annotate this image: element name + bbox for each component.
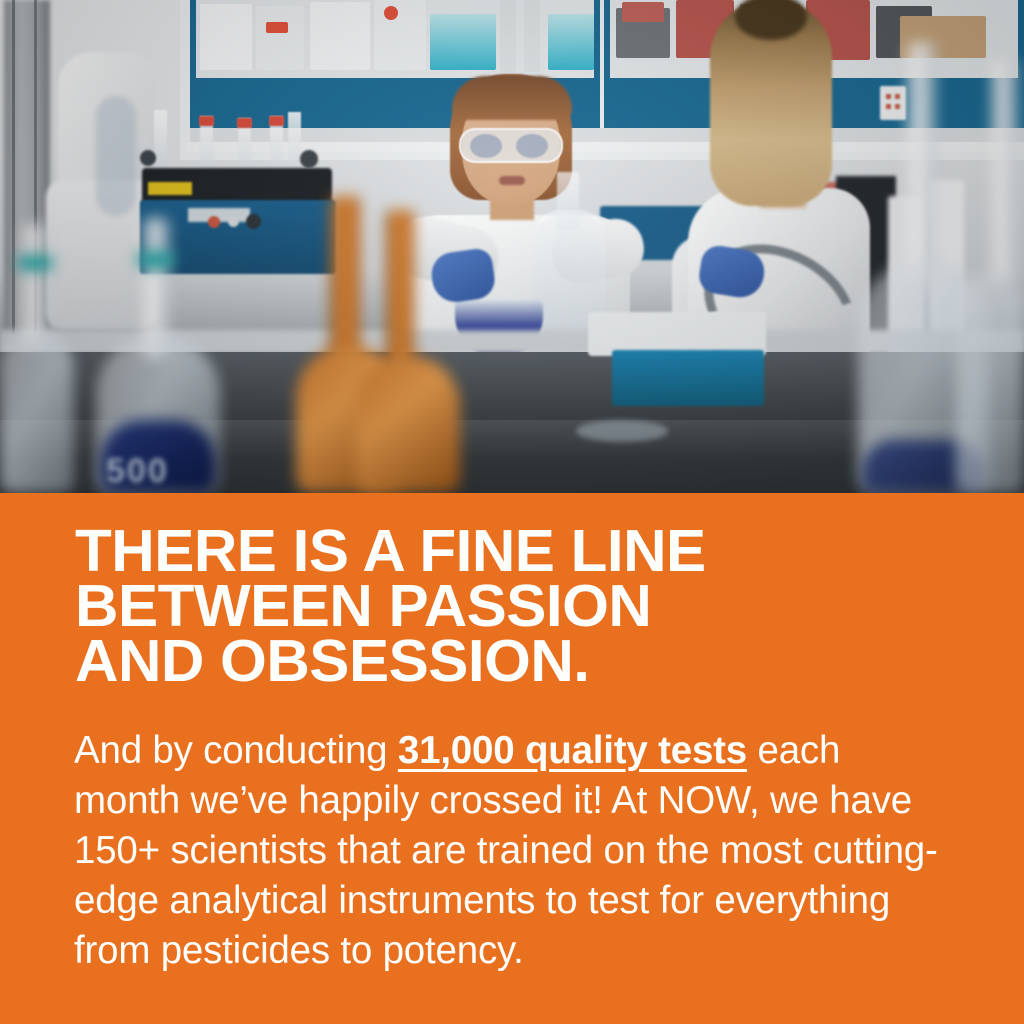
instrument-button (208, 216, 220, 228)
tube-cap (269, 116, 284, 126)
bench-instrument-blue (612, 350, 764, 406)
flask-volume-label: 500 (106, 452, 169, 491)
instrument-knob (300, 150, 318, 168)
cabinet-box (256, 6, 304, 70)
petri-dish (576, 420, 668, 442)
body-copy: And by conducting 31,000 quality tests e… (74, 726, 954, 976)
cabinet-label (266, 22, 288, 33)
scientist-center-fringe (452, 76, 572, 120)
orange-content-panel: THERE IS A FINE LINE BETWEEN PASSION AND… (0, 493, 1024, 1024)
foreground-flask-amber-neck (386, 210, 414, 368)
tube-cap (237, 118, 252, 128)
lab-photo: 500 (0, 0, 1024, 493)
tube-cap (199, 116, 214, 126)
cabinet-box (310, 2, 370, 70)
lab-post-groove (12, 0, 15, 368)
flask-cap-teal (138, 252, 174, 267)
cabinet-item (622, 2, 664, 22)
body-text-before: And by conducting (74, 729, 398, 772)
foreground-flask-neck (906, 42, 936, 280)
scientist-center-mouth (499, 176, 525, 185)
headline: THERE IS A FINE LINE BETWEEN PASSION AND… (75, 524, 993, 689)
eyeglass-lens-left (470, 134, 502, 158)
wall-outlet (880, 86, 906, 120)
cabinet-box (374, 0, 426, 70)
test-tube (154, 110, 167, 162)
foreground-flask-clear (0, 330, 74, 493)
poster: 500 THERE IS A FINE LINE BETWEEN PASSION… (0, 0, 1024, 1024)
instrument-knob (140, 150, 156, 166)
foreground-flask-amber (356, 356, 460, 493)
eyeglass-lens-right (516, 134, 548, 158)
cabinet-divider (500, 0, 516, 72)
flask-cap-teal (18, 256, 52, 270)
coat-fold (96, 96, 136, 216)
foreground-flask-neck (22, 224, 48, 344)
instrument-knob (246, 214, 261, 229)
foreground-flask-amber-neck (330, 196, 360, 362)
cabinet-divider (524, 0, 540, 72)
cabinet-bottle (548, 14, 594, 70)
body-emphasis-quality-tests: 31,000 quality tests (398, 729, 747, 772)
cabinet-box (200, 4, 252, 70)
instrument-indicator (148, 182, 192, 195)
cabinet-label (384, 6, 398, 20)
foreground-flask-clear (956, 272, 1024, 493)
foreground-flask-neck (990, 60, 1018, 282)
instrument-button (228, 216, 239, 227)
cabinet-rail (190, 128, 1024, 142)
cabinet-bottle (430, 14, 496, 70)
